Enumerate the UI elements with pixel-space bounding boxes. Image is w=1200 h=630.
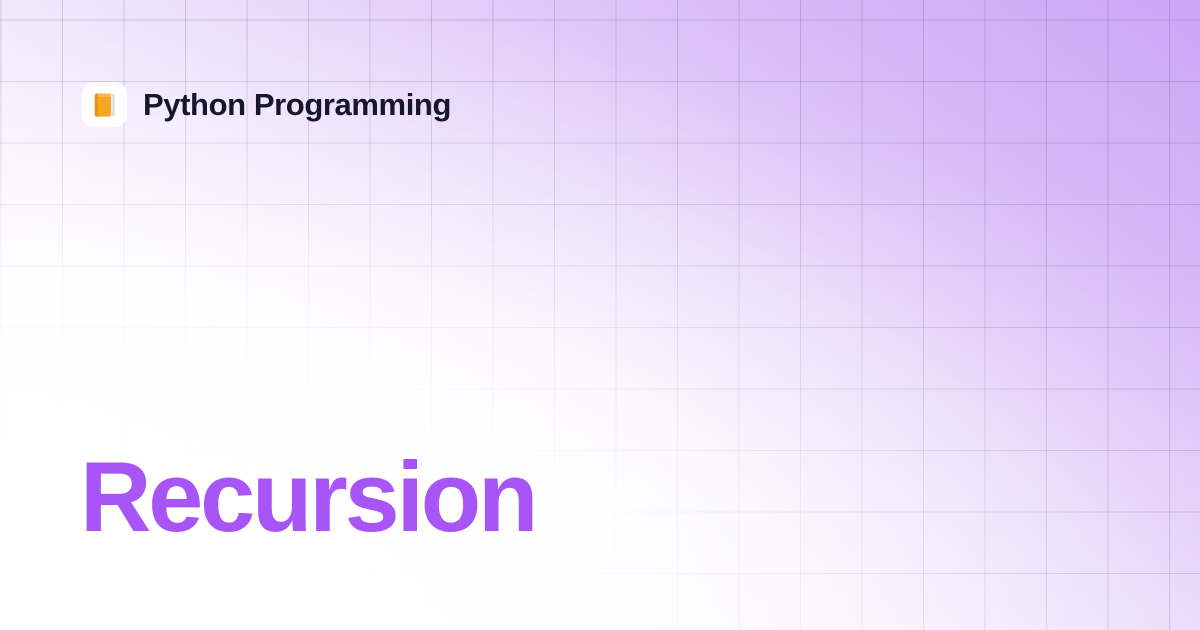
card-content: Python Programming Recursion bbox=[0, 0, 1200, 630]
course-icon-badge bbox=[82, 82, 127, 127]
course-name-label: Python Programming bbox=[143, 89, 451, 120]
course-badge: Python Programming bbox=[82, 82, 451, 127]
orange-book-icon bbox=[90, 90, 120, 120]
lesson-title: Recursion bbox=[80, 447, 535, 546]
og-card: Python Programming Recursion bbox=[0, 0, 1200, 630]
